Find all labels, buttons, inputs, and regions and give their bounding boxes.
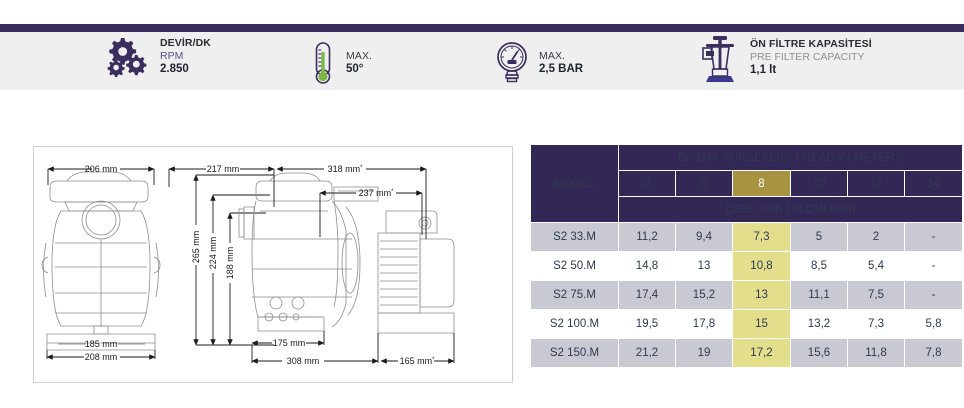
cell-flow: - [905, 252, 963, 281]
spec-line1-prefilter: ÖN FİLTRE KAPASİTESİ [750, 38, 872, 50]
header-head-group: BASMA YÜKSEKLİĞİ | HEAD IN METERS [619, 145, 963, 171]
table-body: S2 33.M11,29,47,352-S2 50.M14,81310,88,5… [531, 223, 963, 368]
performance-table-wrap: MODEL BASMA YÜKSEKLİĞİ | HEAD IN METERS … [530, 144, 962, 368]
cell-flow: 13 [676, 252, 733, 281]
table-row: S2 75.M17,415,21311,17,5- [531, 281, 963, 310]
header-head-14: 14 [905, 171, 963, 197]
cell-model: S2 75.M [531, 281, 619, 310]
spec-item-prefilter: ÖN FİLTRE KAPASİTESİ PRE FILTER CAPACITY… [700, 32, 872, 84]
cell-flow: 11,1 [791, 281, 848, 310]
cell-flow: 15 [733, 310, 791, 339]
header-model: MODEL [531, 145, 619, 223]
cell-model: S2 33.M [531, 223, 619, 252]
spec-text-rpm: DEVİR/DK RPM 2.850 [160, 37, 211, 76]
header-head-8: 8 [733, 171, 791, 197]
thermometer-icon [310, 40, 336, 86]
dim-side-308: 308 mm [287, 356, 320, 366]
dim-front-base-outer: 208 mm [85, 352, 118, 362]
cell-model: S2 50.M [531, 252, 619, 281]
table-row: S2 100.M19,517,81513,27,35,8 [531, 310, 963, 339]
spec-line2-prefilter: PRE FILTER CAPACITY [750, 51, 872, 63]
cell-flow: 8,5 [791, 252, 848, 281]
header-head-10: 10 [791, 171, 848, 197]
cell-flow: 5,8 [905, 310, 963, 339]
gears-icon [104, 34, 150, 80]
cell-flow: 14,8 [619, 252, 676, 281]
dim-height-265: 265 mm [191, 231, 201, 264]
dim-side-318: 318 mm* [328, 164, 364, 174]
table-row: S2 33.M11,29,47,352- [531, 223, 963, 252]
dim-front-base-inner: 185 mm [85, 339, 118, 349]
header-head-6: 6 [676, 171, 733, 197]
header-head-12: 12 [848, 171, 905, 197]
spec-text-prefilter: ÖN FİLTRE KAPASİTESİ PRE FILTER CAPACITY… [750, 38, 872, 77]
spec-item-temperature: MAX. 50° [310, 40, 372, 86]
cell-flow: 21,2 [619, 339, 676, 368]
spec-line2-rpm: RPM [160, 50, 211, 62]
spec-item-rpm: DEVİR/DK RPM 2.850 [104, 34, 211, 80]
dim-front-top-width: 206 mm [85, 164, 118, 174]
cell-flow: 2 [848, 223, 905, 252]
technical-drawing: 206 mm 185 mm 208 mm [34, 147, 512, 382]
cell-flow: 17,8 [676, 310, 733, 339]
cell-flow: 7,8 [905, 339, 963, 368]
technical-drawing-panel: 206 mm 185 mm 208 mm [33, 146, 513, 383]
dim-side-237: 237 mm* [359, 188, 395, 198]
cell-flow: 19 [676, 339, 733, 368]
pre-filter-icon [700, 32, 740, 84]
table-row: S2 50.M14,81310,88,55,4- [531, 252, 963, 281]
dim-side-217: 217 mm [207, 164, 240, 174]
spec-item-pressure: MAX. 2,5 BAR [495, 40, 583, 86]
dim-height-224: 224 mm [208, 237, 218, 270]
spec-bar-rule [0, 24, 964, 32]
cell-flow: 10,8 [733, 252, 791, 281]
dim-side-165: 165 mm* [400, 356, 436, 366]
table-header-row-1: MODEL BASMA YÜKSEKLİĞİ | HEAD IN METERS [531, 145, 963, 171]
cell-flow: 17,2 [733, 339, 791, 368]
cell-model: S2 150.M [531, 339, 619, 368]
spec-line1-rpm: DEVİR/DK [160, 37, 211, 49]
cell-flow: 5 [791, 223, 848, 252]
cell-flow: 5,4 [848, 252, 905, 281]
spec-line3-rpm: 2.850 [160, 63, 211, 77]
cell-model: S2 100.M [531, 310, 619, 339]
pressure-gauge-icon [495, 40, 529, 86]
header-head-4: 4 [619, 171, 676, 197]
dim-height-188: 188 mm [225, 247, 235, 280]
cell-flow: 13 [733, 281, 791, 310]
performance-table: MODEL BASMA YÜKSEKLİĞİ | HEAD IN METERS … [530, 144, 963, 368]
cell-flow: 11,2 [619, 223, 676, 252]
spec-line1-pressure: MAX. [539, 50, 583, 62]
cell-flow: 15,6 [791, 339, 848, 368]
cell-flow: - [905, 281, 963, 310]
spec-line1-temperature: MAX. [346, 50, 372, 62]
datasheet-page: DEVİR/DK RPM 2.850 MAX. [0, 0, 964, 408]
cell-flow: 11,8 [848, 339, 905, 368]
cell-flow: 7,3 [733, 223, 791, 252]
spec-text-pressure: MAX. 2,5 BAR [539, 50, 583, 77]
spec-line3-pressure: 2,5 BAR [539, 63, 583, 77]
header-flow-group: DEBİ m3/h | FLOW m3/h [619, 197, 963, 223]
cell-flow: 9,4 [676, 223, 733, 252]
spec-line3-temperature: 50° [346, 63, 372, 77]
cell-flow: 7,3 [848, 310, 905, 339]
cell-flow: 15,2 [676, 281, 733, 310]
cell-flow: 13,2 [791, 310, 848, 339]
cell-flow: 7,5 [848, 281, 905, 310]
spec-text-temperature: MAX. 50° [346, 50, 372, 77]
dim-side-175: 175 mm [273, 338, 306, 348]
cell-flow: 17,4 [619, 281, 676, 310]
cell-flow: 19,5 [619, 310, 676, 339]
cell-flow: - [905, 223, 963, 252]
table-row: S2 150.M21,21917,215,611,87,8 [531, 339, 963, 368]
spec-line3-prefilter: 1,1 lt [750, 64, 872, 78]
